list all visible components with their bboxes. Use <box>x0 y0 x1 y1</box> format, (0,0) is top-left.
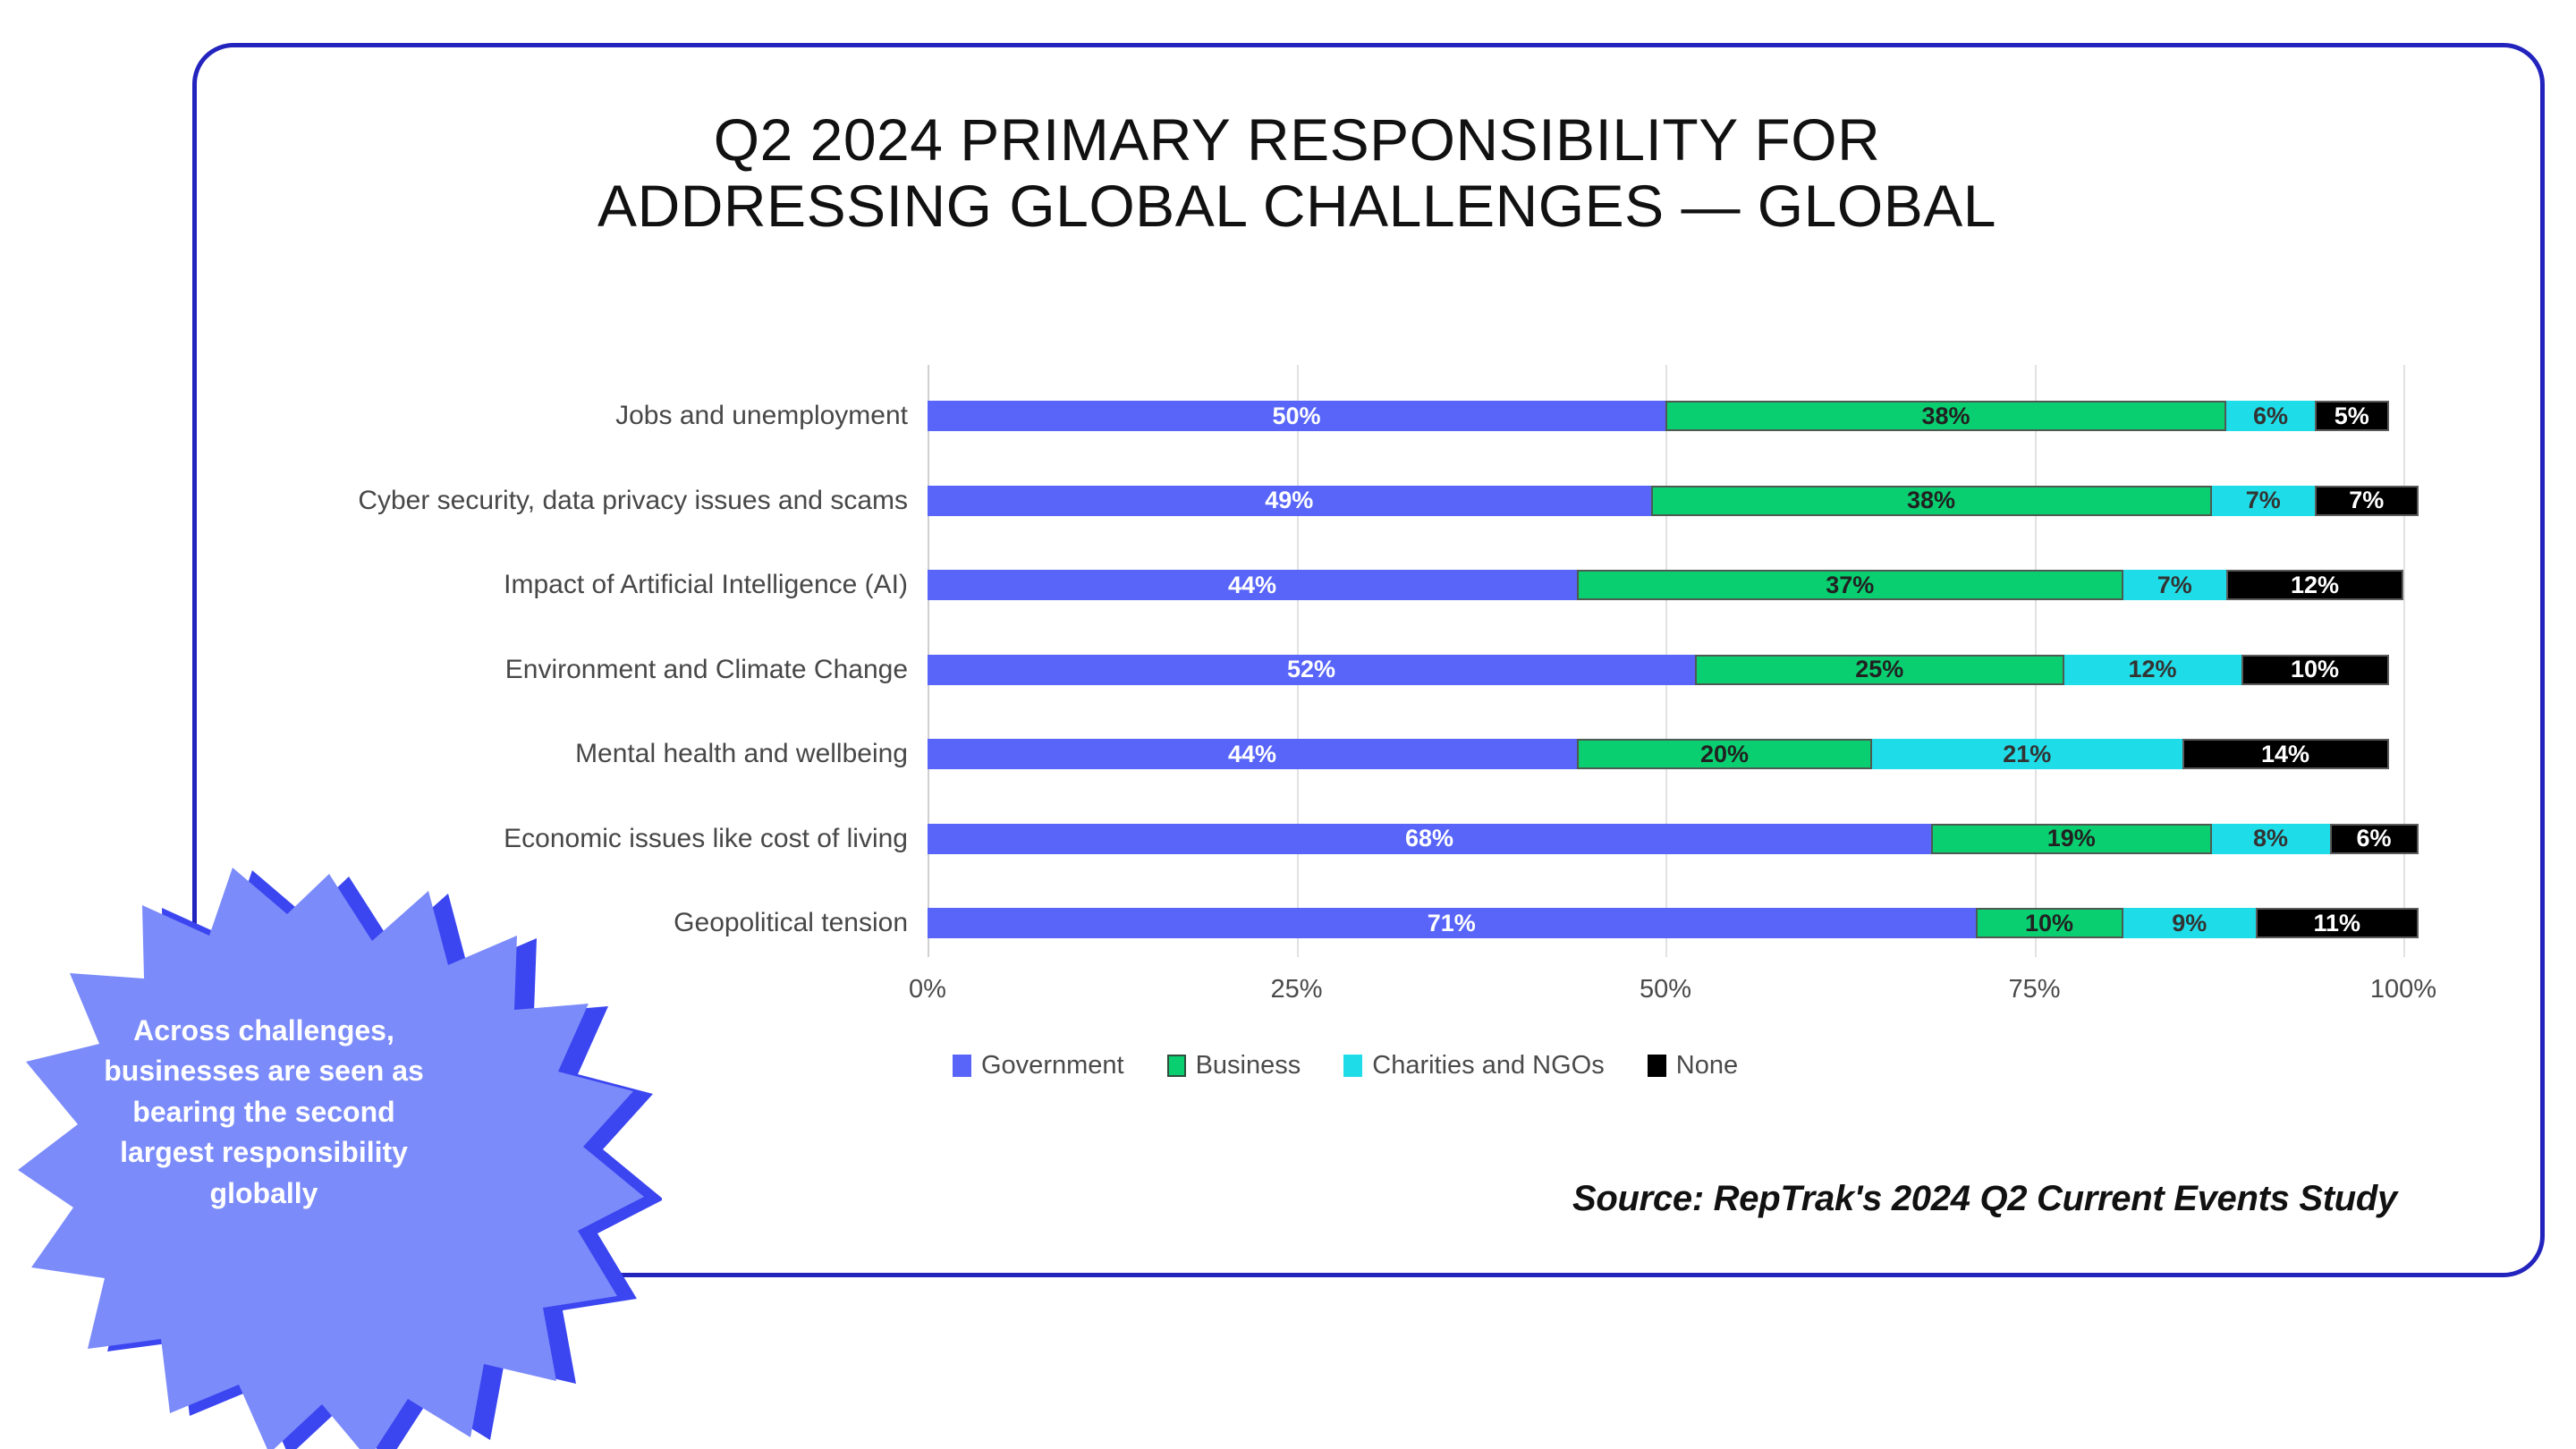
legend-item-government[interactable]: Government <box>953 1051 1124 1080</box>
legend-swatch-none-icon <box>1648 1055 1666 1077</box>
x-tick-label: 25% <box>1270 975 1322 1004</box>
page-title-line-1: Q2 2024 PRIMARY RESPONSIBILITY FOR <box>268 107 2326 174</box>
legend-label: Government <box>981 1051 1124 1080</box>
legend-item-business[interactable]: Business <box>1167 1051 1301 1080</box>
category-label: Impact of Artificial Intelligence (AI) <box>215 558 908 612</box>
x-tick-label: 100% <box>2370 975 2436 1004</box>
category-label: Cyber security, data privacy issues and … <box>215 474 908 528</box>
category-label: Environment and Climate Change <box>215 643 908 697</box>
legend-label: Business <box>1196 1051 1301 1080</box>
legend-label: Charities and NGOs <box>1372 1051 1605 1080</box>
legend-swatch-business-icon <box>1167 1055 1186 1077</box>
callout-text: Across challenges, businesses are seen a… <box>103 1011 425 1214</box>
x-tick-label: 75% <box>2008 975 2060 1004</box>
callout-starburst: Across challenges, businesses are seen a… <box>18 854 662 1449</box>
legend-swatch-charities-icon <box>1343 1055 1362 1077</box>
category-label: Jobs and unemployment <box>215 389 908 443</box>
source-note: Source: RepTrak's 2024 Q2 Current Events… <box>984 1179 2397 1219</box>
page-title-line-2: ADDRESSING GLOBAL CHALLENGES — GLOBAL <box>268 174 2326 240</box>
legend-item-none[interactable]: None <box>1648 1051 1738 1080</box>
x-tick-label: 50% <box>1640 975 1691 1004</box>
legend-item-charities[interactable]: Charities and NGOs <box>1343 1051 1605 1080</box>
page-title: Q2 2024 PRIMARY RESPONSIBILITY FOR ADDRE… <box>268 107 2326 240</box>
category-label: Mental health and wellbeing <box>215 727 908 781</box>
chart-legend: GovernmentBusinessCharities and NGOsNone <box>953 1051 1738 1080</box>
x-axis-ticks: 0%25%50%75%100% <box>928 975 2403 1014</box>
legend-swatch-government-icon <box>953 1055 971 1077</box>
x-tick-label: 0% <box>909 975 946 1004</box>
legend-label: None <box>1676 1051 1738 1080</box>
